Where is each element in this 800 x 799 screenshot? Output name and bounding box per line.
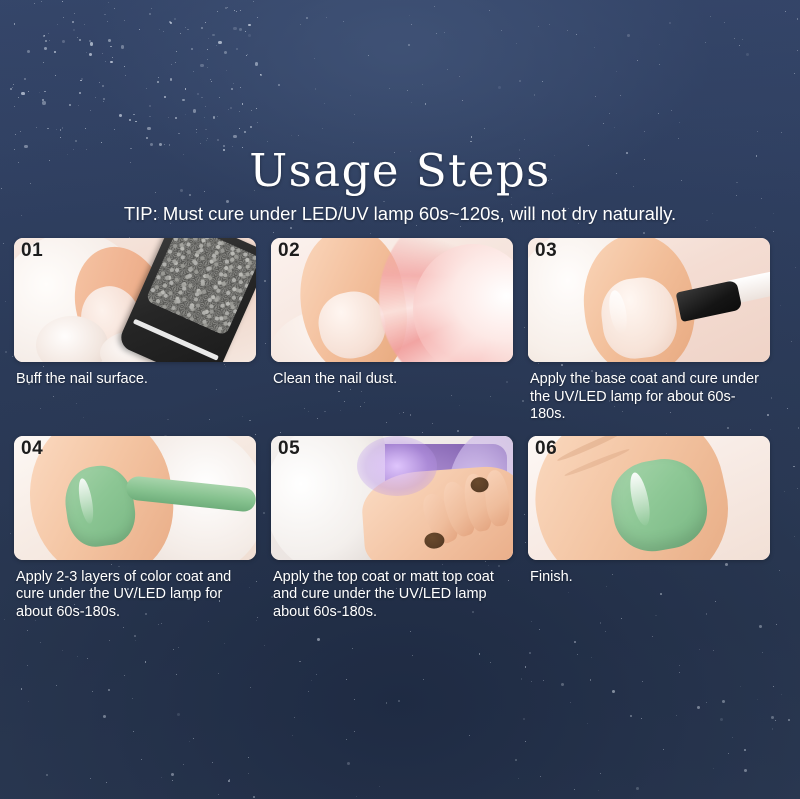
step-cell-01: 01 Buff the nail surface. — [14, 238, 256, 424]
step-photo-02 — [271, 238, 513, 362]
step-caption-02: Clean the nail dust. — [271, 371, 513, 389]
step-image-card-06: 06 — [528, 436, 770, 560]
steps-row-1: 01 Buff the nail surface. 02 Clean the n… — [14, 238, 786, 424]
step-caption-06: Finish. — [528, 569, 770, 587]
step-image-card-03: 03 — [528, 238, 770, 362]
step-cell-04: 04 Apply 2-3 layers of color coat and cu… — [14, 436, 256, 622]
step-image-card-04: 04 — [14, 436, 256, 560]
usage-steps-infographic: Usage Steps TIP: Must cure under LED/UV … — [0, 0, 800, 799]
steps-row-2: 04 Apply 2-3 layers of color coat and cu… — [14, 436, 786, 622]
step-photo-06 — [528, 436, 770, 560]
step-photo-04 — [14, 436, 256, 560]
step-image-card-01: 01 — [14, 238, 256, 362]
step-caption-04: Apply 2-3 layers of color coat and cure … — [14, 569, 256, 622]
step-cell-03: 03 Apply the base coat and cure under th… — [528, 238, 770, 424]
step-photo-01 — [14, 238, 256, 362]
step-cell-05: 05 Apply the top coat or matt top coat a… — [271, 436, 513, 622]
step-photo-05 — [271, 436, 513, 560]
steps-grid: 01 Buff the nail surface. 02 Clean the n… — [14, 238, 786, 633]
step-cell-06: 06 Finish. — [528, 436, 770, 622]
step-number-badge-06: 06 — [535, 438, 557, 460]
step-caption-05: Apply the top coat or matt top coat and … — [271, 569, 513, 622]
step-image-card-05: 05 — [271, 436, 513, 560]
tip-text: TIP: Must cure under LED/UV lamp 60s~120… — [0, 202, 800, 226]
step-cell-02: 02 Clean the nail dust. — [271, 238, 513, 424]
step-number-badge-02: 02 — [278, 240, 300, 262]
step-number-badge-01: 01 — [21, 240, 43, 262]
step-caption-01: Buff the nail surface. — [14, 371, 256, 389]
step-number-badge-04: 04 — [21, 438, 43, 460]
page-title: Usage Steps — [0, 146, 800, 196]
step-number-badge-03: 03 — [535, 240, 557, 262]
step-image-card-02: 02 — [271, 238, 513, 362]
step-caption-03: Apply the base coat and cure under the U… — [528, 371, 770, 424]
step-photo-03 — [528, 238, 770, 362]
step-number-badge-05: 05 — [278, 438, 300, 460]
